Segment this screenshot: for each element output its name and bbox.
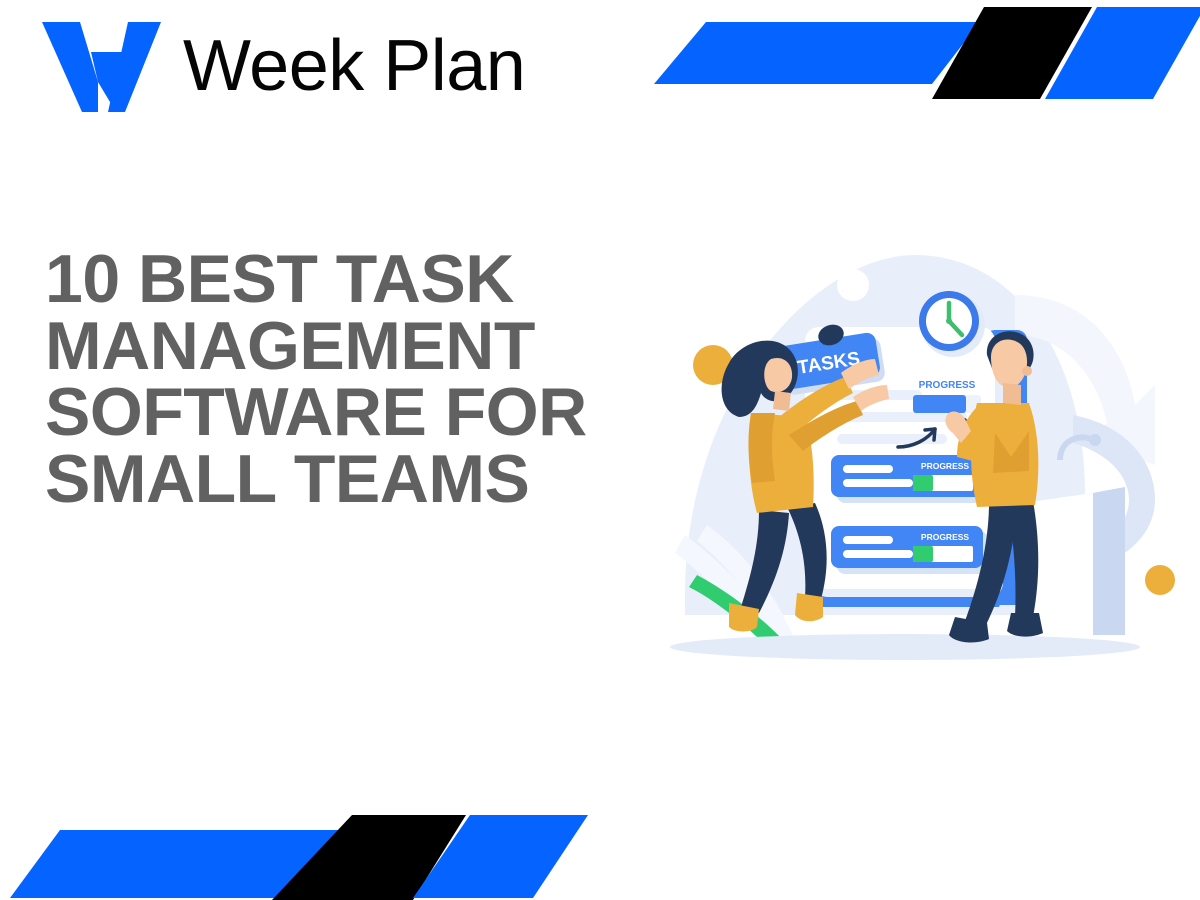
progress-card-bottom: PROGRESS [831, 526, 989, 574]
ground-shadow [670, 634, 1140, 660]
progress-card-bottom-fill [913, 546, 933, 562]
boot-front [795, 593, 823, 621]
progress-card-middle: PROGRESS [831, 455, 989, 503]
brand-header: Week Plan [28, 20, 525, 112]
top-right-chevron-banner [640, 0, 1200, 110]
progress-card-top-fill [913, 395, 966, 413]
progress-card-top: PROGRESS [913, 380, 981, 413]
progress-card-bottom-label: PROGRESS [921, 532, 970, 542]
page-title: 10 BEST TASK MANAGEMENT SOFTWARE FOR SMA… [45, 246, 685, 513]
task-management-illustration: TASKS PROGRESS [655, 235, 1185, 665]
progress-card-top-label: PROGRESS [919, 380, 976, 391]
bottom-left-chevron-banner [0, 790, 620, 900]
progress-card-middle-fill [913, 475, 933, 491]
progress-card-middle-label: PROGRESS [921, 461, 970, 471]
accent-dot-right-icon [1145, 565, 1175, 595]
shoe-back [1007, 613, 1043, 637]
cover-page: Week Plan 10 BEST TASK MANAGEMENT SOFTWA… [0, 0, 1200, 900]
decorative-circle [837, 269, 869, 301]
banner-segment-blue-long [654, 22, 980, 84]
brand-name: Week Plan [183, 30, 525, 102]
week-plan-w-logo-icon [28, 20, 161, 112]
